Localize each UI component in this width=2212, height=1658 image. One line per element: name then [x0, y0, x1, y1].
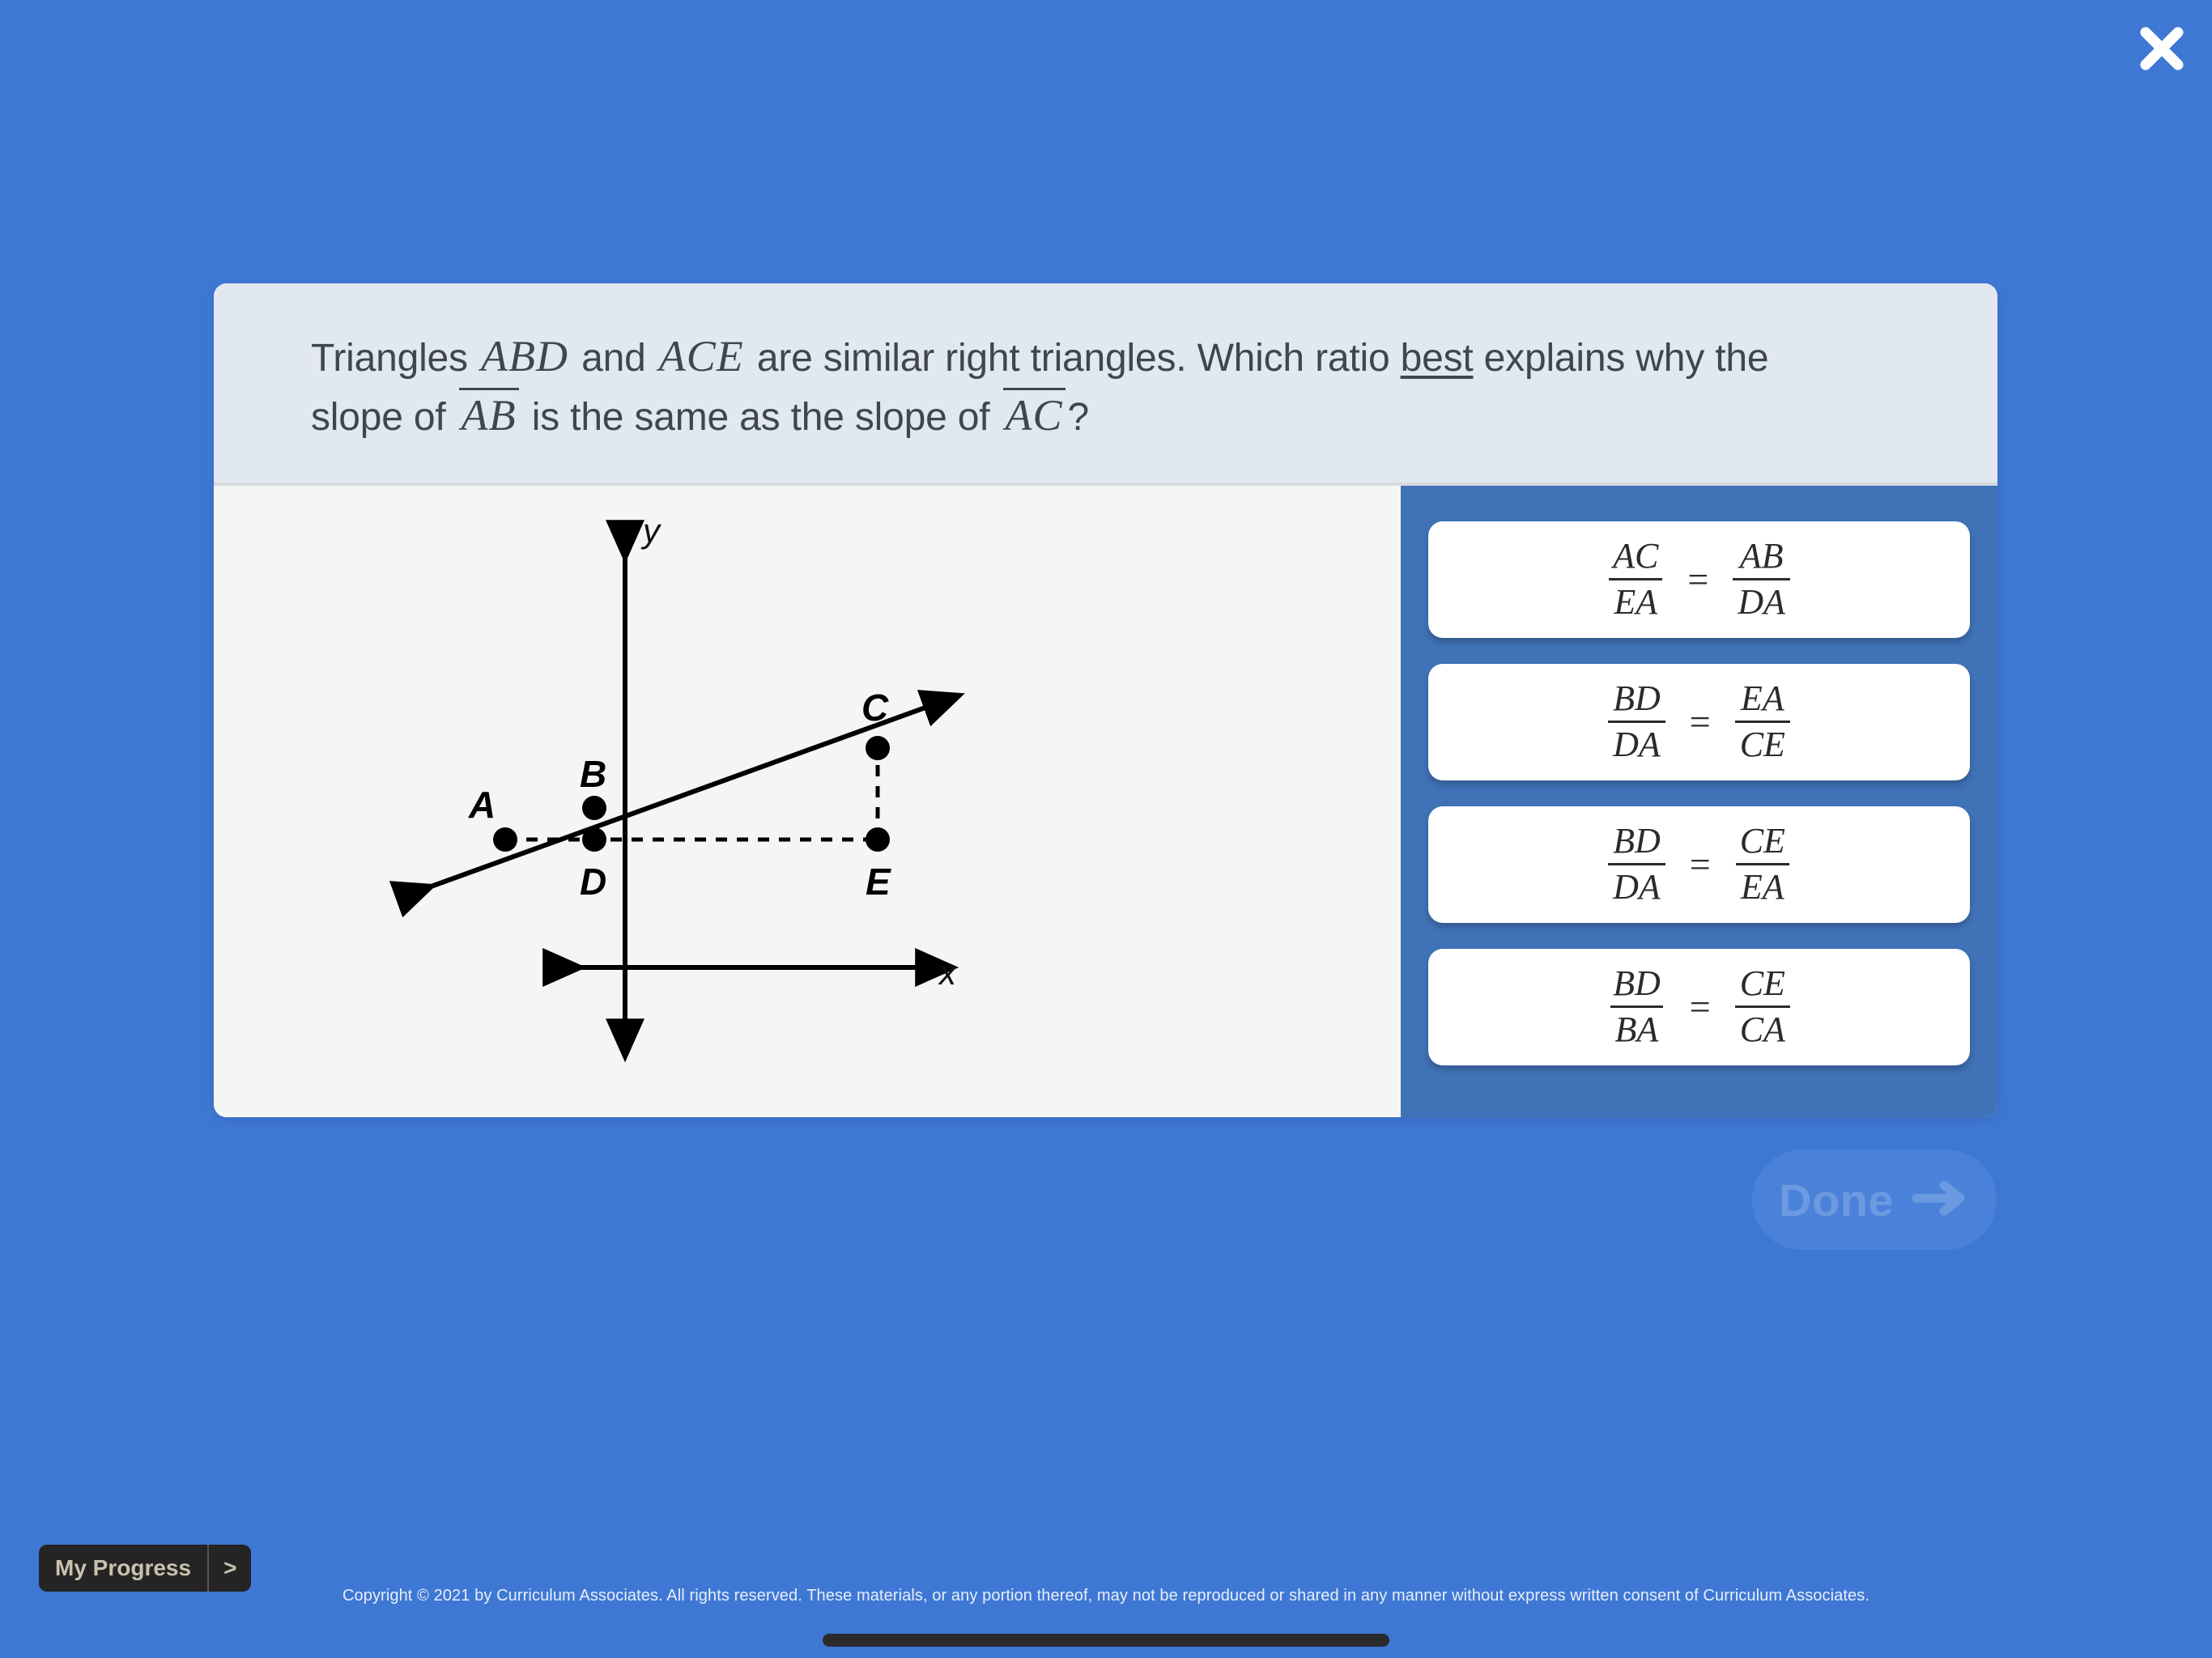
question-line2-a: slope of — [311, 396, 457, 439]
equation-1: AC EA = AB DA — [1608, 538, 1790, 621]
fraction-right-4: CE CA — [1735, 965, 1790, 1048]
equals-sign: = — [1690, 843, 1711, 886]
question-line1-b: and — [571, 337, 657, 380]
my-progress-label: My Progress — [39, 1545, 207, 1592]
close-button[interactable] — [2128, 15, 2196, 83]
point-D — [582, 827, 606, 852]
equation-4: BD BA = CE CA — [1608, 965, 1790, 1048]
done-button-label: Done — [1779, 1174, 1894, 1226]
question-line1-c: are similar right triangles. Which ratio — [747, 337, 1401, 380]
denominator: CA — [1735, 1005, 1790, 1048]
denominator: EA — [1736, 863, 1789, 906]
denominator: DA — [1608, 721, 1665, 763]
fraction-left-1: AC EA — [1608, 538, 1663, 621]
equation-2: BD DA = EA CE — [1608, 680, 1790, 763]
numerator: BD — [1608, 680, 1665, 721]
denominator: DA — [1733, 578, 1790, 621]
numerator: AC — [1608, 538, 1663, 578]
point-A — [493, 827, 517, 852]
close-icon — [2138, 24, 2186, 73]
equation-3: BD DA = CE EA — [1608, 823, 1790, 906]
question-line1-a: Triangles — [311, 337, 479, 380]
point-B — [582, 796, 606, 820]
math-var-ace: ACE — [657, 332, 747, 380]
arrow-right-icon — [1912, 1179, 1970, 1222]
denominator: CE — [1735, 721, 1790, 763]
copyright-text: Copyright © 2021 by Curriculum Associate… — [0, 1587, 2212, 1605]
point-label-B: B — [580, 753, 606, 795]
fraction-left-3: BD DA — [1608, 823, 1665, 906]
question-card: Triangles ABD and ACE are similar right … — [214, 283, 1997, 1117]
segment-ab: AB — [459, 388, 519, 437]
question-line2-c: ? — [1068, 396, 1090, 439]
question-text: Triangles ABD and ACE are similar right … — [311, 325, 1900, 445]
fraction-right-2: EA CE — [1735, 680, 1790, 763]
math-var-abd: ABD — [479, 332, 571, 380]
numerator: CE — [1735, 965, 1790, 1005]
answer-choice-1[interactable]: AC EA = AB DA — [1428, 521, 1970, 638]
diagram-panel: y x — [214, 486, 1401, 1117]
card-body: y x — [214, 486, 1997, 1117]
denominator: BA — [1610, 1005, 1664, 1048]
point-C — [866, 736, 890, 760]
point-label-D: D — [580, 861, 606, 903]
segment-ac: AC — [1003, 388, 1066, 437]
numerator: AB — [1735, 538, 1789, 578]
fraction-right-3: CE EA — [1735, 823, 1790, 906]
equals-sign: = — [1687, 558, 1708, 601]
numerator: BD — [1608, 823, 1665, 863]
chevron-right-icon[interactable]: > — [207, 1545, 251, 1592]
answer-choice-4[interactable]: BD BA = CE CA — [1428, 949, 1970, 1065]
fraction-right-1: AB DA — [1733, 538, 1790, 621]
answer-choice-2[interactable]: BD DA = EA CE — [1428, 664, 1970, 780]
fraction-left-4: BD BA — [1608, 965, 1665, 1048]
point-label-E: E — [866, 861, 891, 903]
x-axis-label: x — [938, 954, 958, 992]
point-label-A: A — [468, 784, 496, 826]
my-progress-button[interactable]: My Progress > — [39, 1545, 251, 1592]
fraction-left-2: BD DA — [1608, 680, 1665, 763]
question-emphasis-best: best — [1401, 337, 1474, 380]
answer-choices-panel: AC EA = AB DA BD DA = — [1401, 486, 1997, 1117]
point-label-C: C — [861, 687, 889, 729]
equals-sign: = — [1690, 985, 1711, 1028]
equals-sign: = — [1690, 700, 1711, 743]
answer-choice-3[interactable]: BD DA = CE EA — [1428, 806, 1970, 923]
numerator: CE — [1735, 823, 1790, 863]
numerator: EA — [1736, 680, 1789, 721]
numerator: BD — [1608, 965, 1665, 1005]
point-E — [866, 827, 890, 852]
done-button[interactable]: Done — [1752, 1150, 1997, 1250]
denominator: DA — [1608, 863, 1665, 906]
question-header: Triangles ABD and ACE are similar right … — [214, 283, 1997, 486]
question-line2-b: is the same as the slope of — [521, 396, 1001, 439]
denominator: EA — [1609, 578, 1662, 621]
home-indicator — [823, 1634, 1389, 1647]
question-line1-d: explains why the — [1474, 337, 1769, 380]
coordinate-plane-diagram: y x — [214, 486, 1401, 1117]
y-axis-label: y — [640, 512, 662, 550]
